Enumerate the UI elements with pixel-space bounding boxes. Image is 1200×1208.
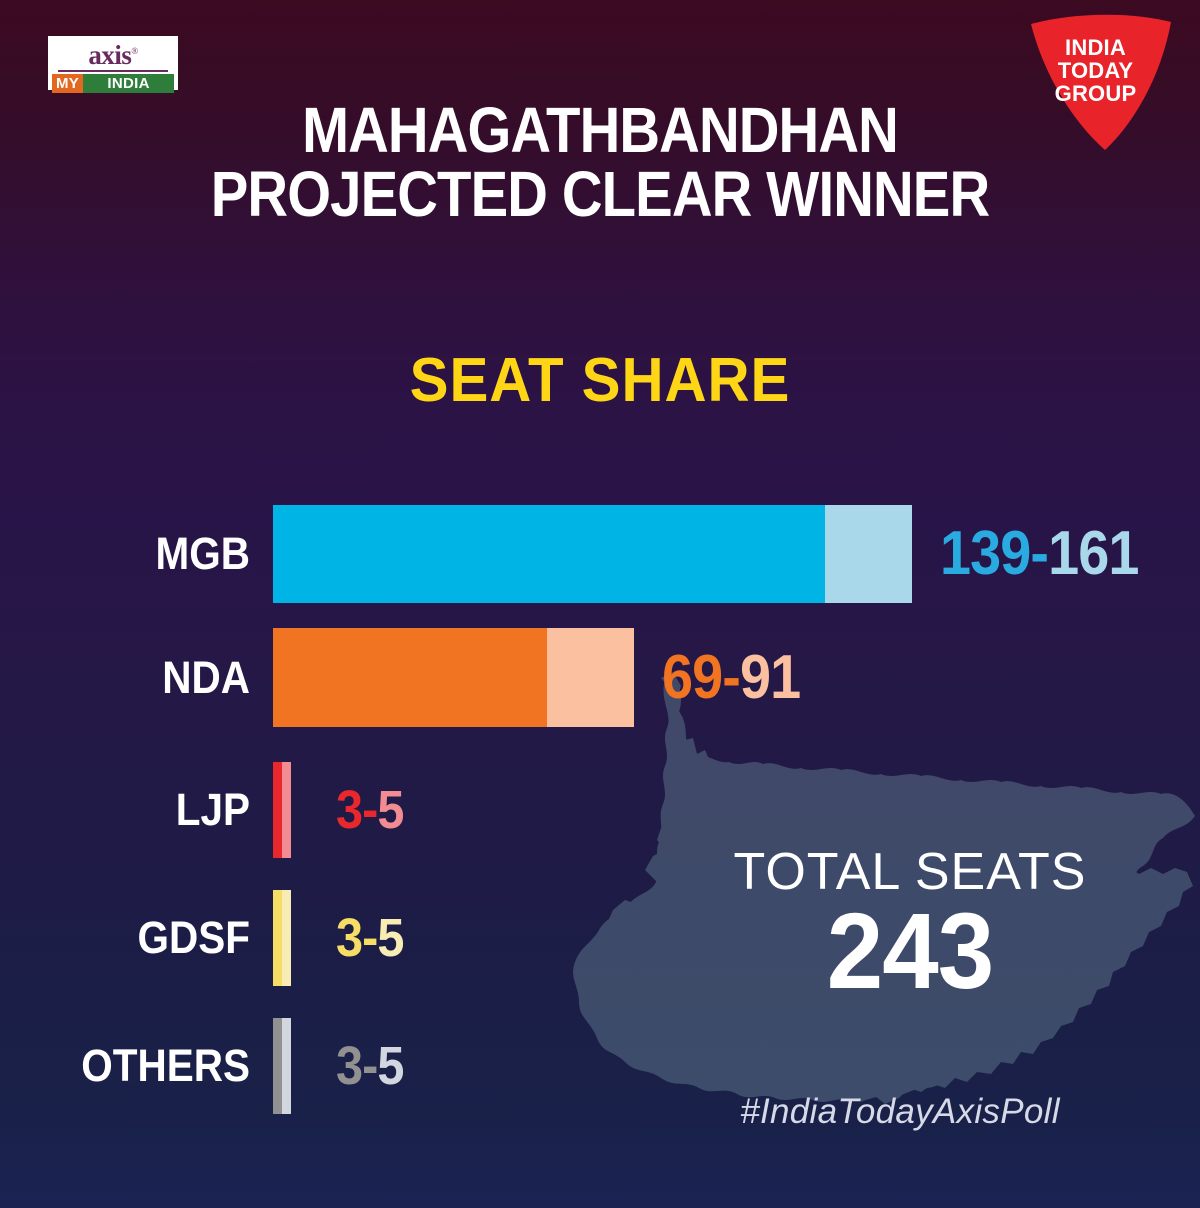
- chart-bar-gdsf: [273, 890, 291, 986]
- chart-row-label-ljp: LJP: [25, 784, 250, 836]
- chart-value-low: 139-: [940, 519, 1048, 588]
- chart-bar-others: [273, 1018, 291, 1114]
- chart-value-high: 5: [377, 908, 403, 968]
- chart-value-mgb: 139-161: [940, 521, 1138, 587]
- chart-bar-segment-low: [273, 890, 282, 986]
- chart-bar-segment-low: [273, 505, 825, 603]
- chart-row-label-gdsf: GDSF: [25, 912, 250, 964]
- chart-bar-segment-high: [825, 505, 912, 603]
- chart-bar-mgb: [273, 505, 912, 603]
- seat-share-chart: MGB139-161NDA69-91LJP3-5GDSF3-5OTHERS3-5: [0, 0, 1200, 1208]
- chart-bar-segment-high: [282, 890, 291, 986]
- chart-value-high: 5: [377, 1036, 403, 1096]
- total-seats-block: TOTAL SEATS 243: [700, 845, 1120, 1003]
- chart-bar-segment-high: [547, 628, 634, 727]
- infographic-poster: axis® MY INDIA INDIA TODAY GROUP MAHAGAT…: [0, 0, 1200, 1208]
- chart-bar-nda: [273, 628, 634, 727]
- chart-value-low: 3-: [336, 1036, 377, 1096]
- chart-row-label-nda: NDA: [25, 652, 250, 704]
- chart-bar-segment-high: [282, 1018, 291, 1114]
- chart-row-mgb: MGB139-161: [0, 505, 1200, 603]
- chart-bar-segment-low: [273, 762, 282, 858]
- chart-bar-ljp: [273, 762, 291, 858]
- chart-bar-segment-high: [282, 762, 291, 858]
- chart-bar-segment-low: [273, 1018, 282, 1114]
- chart-value-low: 69-: [662, 643, 740, 712]
- chart-value-low: 3-: [336, 908, 377, 968]
- chart-value-nda: 69-91: [662, 645, 800, 711]
- chart-value-low: 3-: [336, 780, 377, 840]
- chart-value-high: 5: [377, 780, 403, 840]
- chart-value-high: 91: [740, 643, 800, 712]
- total-seats-value: 243: [713, 899, 1108, 1003]
- hashtag: #IndiaTodayAxisPoll: [640, 1092, 1160, 1132]
- chart-value-ljp: 3-5: [336, 781, 404, 839]
- chart-value-others: 3-5: [336, 1037, 404, 1095]
- chart-value-gdsf: 3-5: [336, 909, 404, 967]
- chart-row-label-mgb: MGB: [25, 528, 250, 580]
- chart-row-label-others: OTHERS: [25, 1040, 250, 1092]
- chart-bar-segment-low: [273, 628, 547, 727]
- chart-value-high: 161: [1048, 519, 1138, 588]
- chart-row-nda: NDA69-91: [0, 628, 1200, 727]
